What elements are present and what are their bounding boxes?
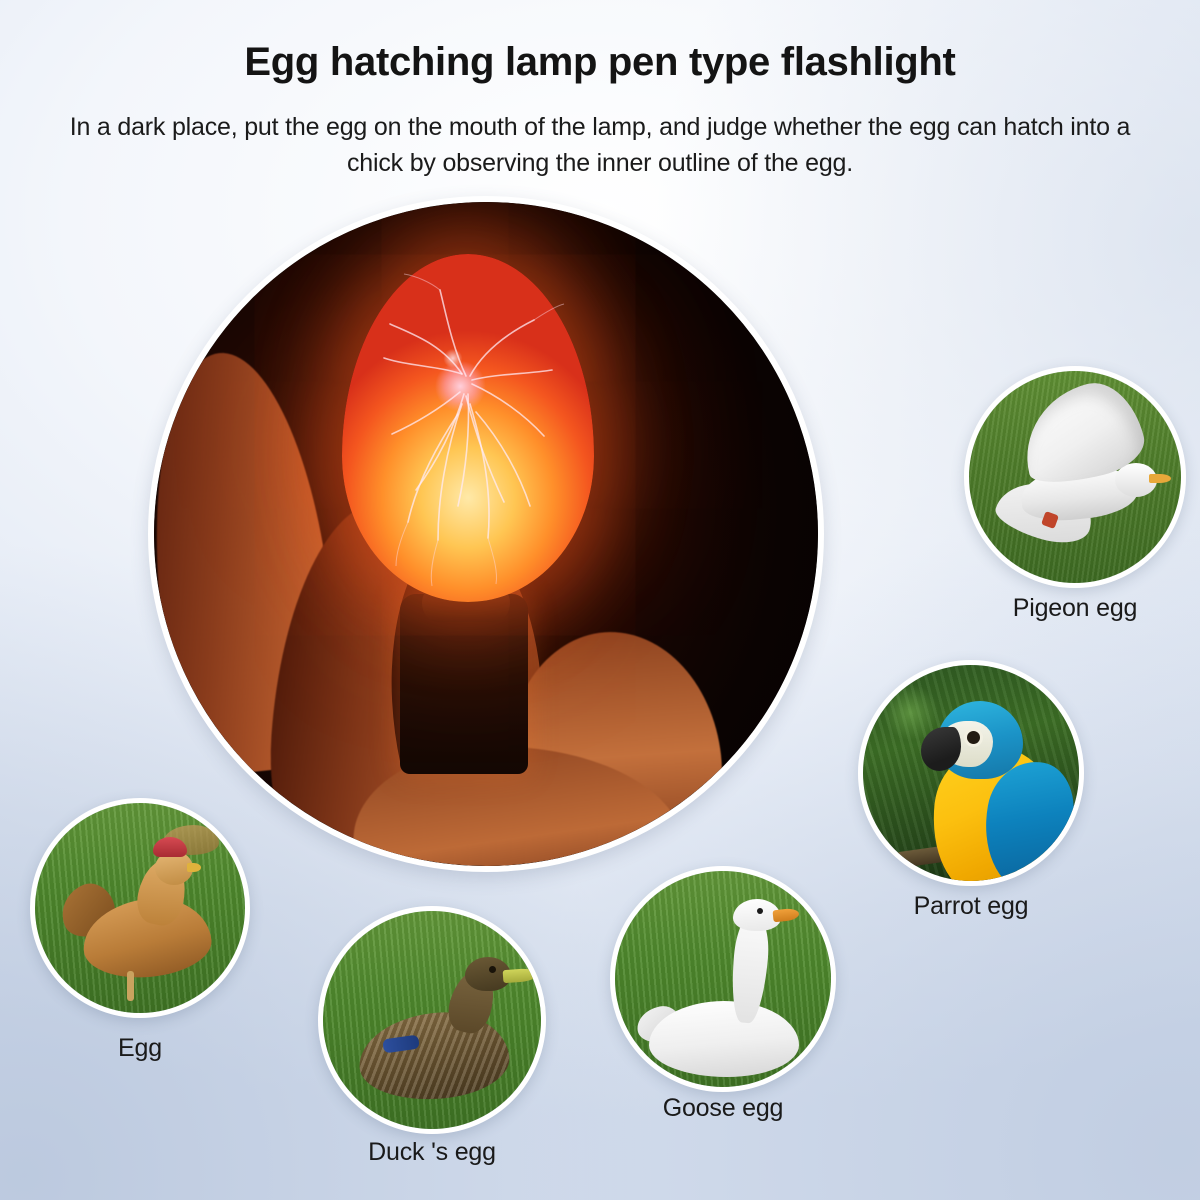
description-text: In a dark place, put the egg on the mout… xyxy=(60,110,1140,181)
thumbnail-parrot xyxy=(858,660,1084,886)
thumbnail-pigeon xyxy=(964,366,1186,588)
duck-eye xyxy=(489,966,496,973)
parrot-eye xyxy=(967,731,980,744)
egg-candling-photo xyxy=(154,202,818,866)
thumbnail-label-duck: Duck 's egg xyxy=(318,1138,546,1167)
egg-veins-icon xyxy=(342,254,594,602)
thumbnail-label-chicken: Egg xyxy=(30,1034,250,1063)
thumbnail-duck xyxy=(318,906,546,1134)
hen-leg xyxy=(127,971,134,1001)
thumbnail-label-pigeon: Pigeon egg xyxy=(964,594,1186,623)
page-title: Egg hatching lamp pen type flashlight xyxy=(0,40,1200,84)
goose-eye xyxy=(757,908,763,914)
glowing-egg xyxy=(342,254,594,602)
thumbnail-chicken xyxy=(30,798,250,1018)
hero-image-circle xyxy=(148,196,824,872)
hen-beak xyxy=(187,863,201,872)
product-poster: Egg hatching lamp pen type flashlight In… xyxy=(0,0,1200,1200)
pigeon-beak xyxy=(1149,474,1171,483)
thumbnail-label-parrot: Parrot egg xyxy=(858,892,1084,921)
hen-comb xyxy=(153,837,187,857)
thumbnail-goose xyxy=(610,866,836,1092)
thumbnail-label-goose: Goose egg xyxy=(610,1094,836,1123)
